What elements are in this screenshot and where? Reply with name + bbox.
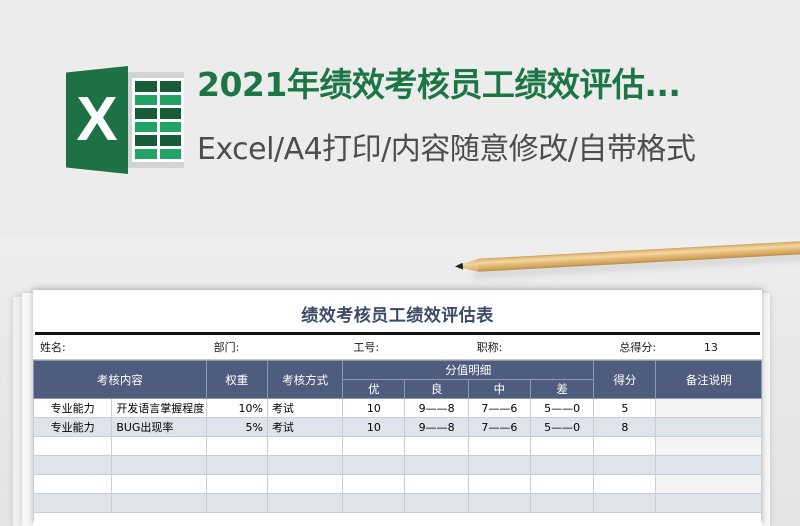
cell-item[interactable]	[112, 437, 206, 456]
cell-poor[interactable]: 5——0	[530, 399, 593, 418]
col-header-detail-group: 分值明细	[343, 361, 594, 380]
cell-score[interactable]	[594, 437, 656, 456]
info-label-name: 姓名:	[33, 339, 207, 355]
excel-logo-letter: X	[66, 66, 128, 174]
cell-remark[interactable]	[656, 494, 762, 513]
cell-remark[interactable]	[656, 418, 762, 437]
cell-excellent[interactable]	[343, 456, 405, 475]
cell-weight[interactable]	[206, 456, 267, 475]
cell-method[interactable]	[267, 475, 342, 494]
cell-excellent[interactable]: 10	[343, 399, 405, 418]
cell-fair[interactable]	[468, 475, 530, 494]
info-value-total-score: 13	[697, 341, 762, 354]
cell-category[interactable]	[34, 437, 112, 456]
cell-category[interactable]	[34, 475, 112, 494]
col-header-fair: 中	[468, 380, 530, 399]
info-label-job-title: 职称:	[470, 339, 613, 355]
cell-method[interactable]: 考试	[267, 399, 342, 418]
col-header-remark: 备注说明	[656, 361, 762, 399]
cell-good[interactable]	[405, 494, 468, 513]
info-label-department: 部门:	[207, 339, 347, 355]
cell-excellent[interactable]: 10	[343, 418, 405, 437]
cell-category[interactable]: 专业能力	[34, 418, 112, 437]
col-header-good: 良	[405, 380, 468, 399]
cell-remark[interactable]	[656, 437, 762, 456]
cell-weight[interactable]	[206, 437, 267, 456]
cell-score[interactable]: 5	[594, 399, 656, 418]
cell-weight[interactable]: 5%	[206, 418, 267, 437]
cell-item[interactable]	[112, 456, 206, 475]
cell-score[interactable]	[594, 475, 656, 494]
table-row[interactable]: 专业能力开发语言掌握程度10%考试109——87——65——05	[34, 399, 762, 418]
cell-fair[interactable]: 7——6	[468, 418, 530, 437]
excel-logo-grid	[132, 78, 184, 162]
cell-remark[interactable]	[656, 456, 762, 475]
cell-good[interactable]	[405, 475, 468, 494]
spreadsheet-preview[interactable]: 绩效考核员工绩效评估表 姓名: 部门: 工号: 职称: 总得分: 13 考核内容…	[33, 290, 762, 526]
cell-fair[interactable]	[468, 437, 530, 456]
cell-score[interactable]	[594, 494, 656, 513]
cell-poor[interactable]	[530, 456, 593, 475]
cell-good[interactable]	[405, 456, 468, 475]
col-header-weight: 权重	[206, 361, 267, 399]
table-header-row-1: 考核内容 权重 考核方式 分值明细 得分 备注说明	[34, 361, 762, 380]
table-row[interactable]	[34, 494, 762, 513]
cell-weight[interactable]	[206, 494, 267, 513]
col-header-poor: 差	[530, 380, 593, 399]
cell-method[interactable]	[267, 456, 342, 475]
table-row-partial	[33, 513, 762, 521]
cell-method[interactable]: 考试	[267, 418, 342, 437]
info-row: 姓名: 部门: 工号: 职称: 总得分: 13	[33, 335, 762, 360]
excel-logo-icon: X	[66, 62, 184, 178]
cell-item[interactable]: 开发语言掌握程度	[112, 399, 206, 418]
cell-method[interactable]	[267, 437, 342, 456]
cell-remark[interactable]	[656, 399, 762, 418]
promo-banner: X 2021年绩效考核员工绩效评估... Excel/A4打印/内容随意修改/自…	[0, 0, 800, 250]
cell-method[interactable]	[267, 494, 342, 513]
cell-fair[interactable]	[468, 456, 530, 475]
cell-poor[interactable]: 5——0	[530, 418, 593, 437]
info-label-total-score: 总得分:	[612, 339, 697, 355]
table-body: 专业能力开发语言掌握程度10%考试109——87——65——05专业能力BUG出…	[34, 399, 762, 513]
cell-remark[interactable]	[656, 475, 762, 494]
cell-category[interactable]	[34, 456, 112, 475]
table-row[interactable]	[34, 456, 762, 475]
cell-item[interactable]	[112, 494, 206, 513]
cell-category[interactable]	[34, 494, 112, 513]
cell-poor[interactable]	[530, 437, 593, 456]
table-row[interactable]: 专业能力BUG出现率5%考试109——87——65——08	[34, 418, 762, 437]
cell-item[interactable]: BUG出现率	[112, 418, 206, 437]
table-row[interactable]	[34, 475, 762, 494]
cell-excellent[interactable]	[343, 475, 405, 494]
cell-score[interactable]	[594, 456, 656, 475]
cell-weight[interactable]: 10%	[206, 399, 267, 418]
page-subtitle: Excel/A4打印/内容随意修改/自带格式	[197, 124, 777, 176]
cell-good[interactable]: 9——8	[405, 399, 468, 418]
cell-item[interactable]	[112, 475, 206, 494]
cell-poor[interactable]	[530, 475, 593, 494]
cell-poor[interactable]	[530, 494, 593, 513]
title-block: 2021年绩效考核员工绩效评估... Excel/A4打印/内容随意修改/自带格…	[197, 60, 777, 176]
cell-category[interactable]: 专业能力	[34, 399, 112, 418]
cell-score[interactable]: 8	[594, 418, 656, 437]
evaluation-table: 考核内容 权重 考核方式 分值明细 得分 备注说明 优 良 中 差 专业能力开发…	[33, 360, 762, 513]
col-header-excellent: 优	[343, 380, 405, 399]
table-row[interactable]	[34, 437, 762, 456]
col-header-content: 考核内容	[34, 361, 207, 399]
cell-good[interactable]: 9——8	[405, 418, 468, 437]
col-header-score: 得分	[594, 361, 656, 399]
page-title: 2021年绩效考核员工绩效评估...	[197, 60, 777, 110]
cell-good[interactable]	[405, 437, 468, 456]
cell-fair[interactable]	[468, 494, 530, 513]
cell-fair[interactable]: 7——6	[468, 399, 530, 418]
info-label-employee-id: 工号:	[346, 339, 469, 355]
sheet-title: 绩效考核员工绩效评估表	[33, 290, 762, 332]
cell-excellent[interactable]	[343, 437, 405, 456]
col-header-method: 考核方式	[267, 361, 342, 399]
cell-weight[interactable]	[206, 475, 267, 494]
cell-excellent[interactable]	[343, 494, 405, 513]
